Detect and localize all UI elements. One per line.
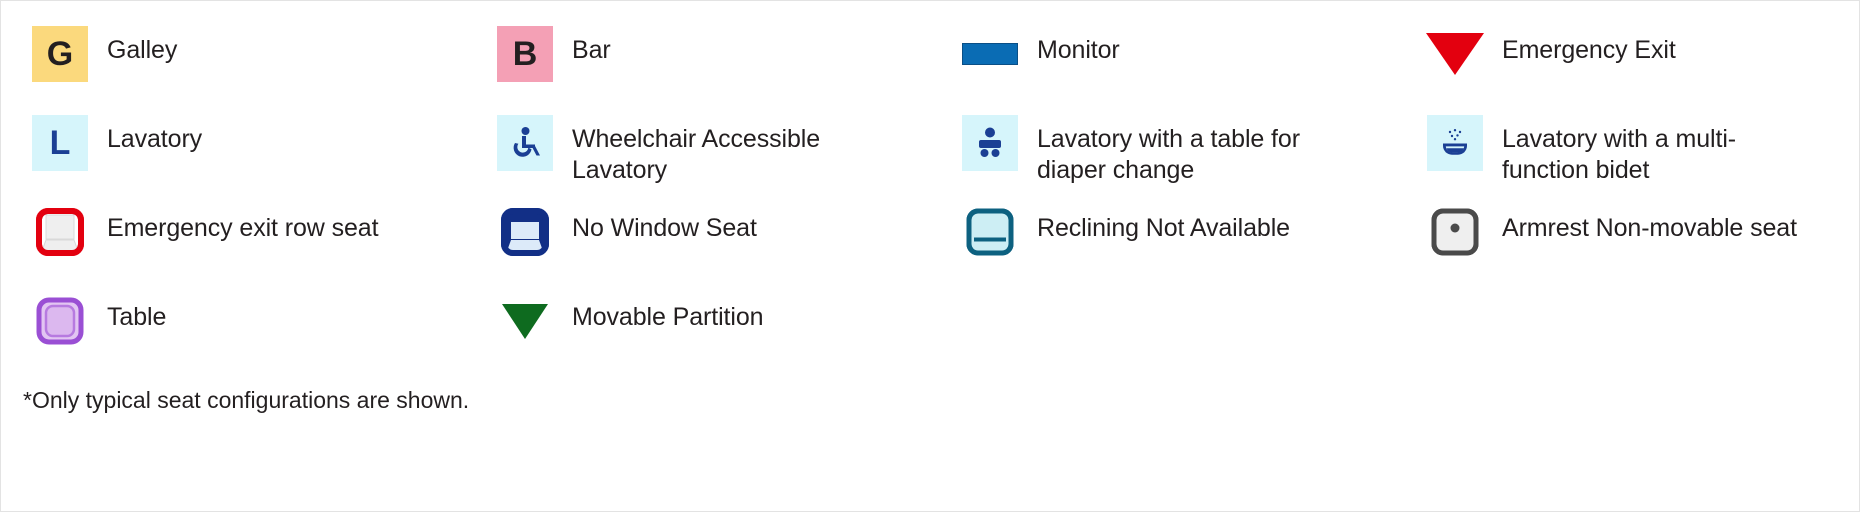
galley-letter: G (32, 26, 88, 82)
bar-tile-icon: B (496, 25, 554, 83)
legend-item-placeholder-2 (1396, 284, 1860, 373)
baby-change-tile (962, 115, 1018, 171)
legend-label-wheelchair-lavatory: Wheelchair Accessible Lavatory (572, 124, 867, 185)
legend-item-lavatory: L Lavatory (1, 106, 466, 195)
armrest-non-movable-seat-icon (1426, 203, 1484, 261)
legend-label-lavatory: Lavatory (107, 124, 202, 155)
reclining-not-available-seat-icon (961, 203, 1019, 261)
legend-label-baby-change-lavatory: Lavatory with a table for diaper change (1037, 124, 1332, 185)
legend-item-wheelchair-lavatory: Wheelchair Accessible Lavatory (466, 106, 931, 195)
legend-label-reclining-not-available: Reclining Not Available (1037, 213, 1290, 244)
legend-footnote: *Only typical seat configurations are sh… (1, 387, 1859, 414)
legend-item-no-window-seat: No Window Seat (466, 195, 931, 284)
legend-item-monitor: Monitor (931, 17, 1396, 106)
emergency-exit-triangle (1426, 33, 1484, 75)
legend-item-bidet-lavatory: Lavatory with a multi-function bidet (1396, 106, 1860, 195)
movable-partition-triangle (502, 304, 548, 339)
emergency-exit-triangle-icon (1426, 25, 1484, 83)
table-shape (34, 295, 86, 347)
table-icon (31, 292, 89, 350)
wheelchair-icon (505, 123, 545, 163)
legend-item-table: Table (1, 284, 466, 373)
legend-item-emergency-exit-row-seat: Emergency exit row seat (1, 195, 466, 284)
seat-map-legend-panel: G Galley B Bar Monitor Emergency Exit (0, 0, 1860, 512)
bar-letter: B (497, 26, 553, 82)
bidet-tile (1427, 115, 1483, 171)
legend-label-no-window-seat: No Window Seat (572, 213, 757, 244)
legend-label-table: Table (107, 302, 166, 333)
monitor-swatch (962, 43, 1018, 65)
lavatory-letter: L (32, 115, 88, 171)
legend-label-emergency-exit: Emergency Exit (1502, 35, 1676, 66)
legend-item-galley: G Galley (1, 17, 466, 106)
legend-item-bar: B Bar (466, 17, 931, 106)
wheelchair-tile (497, 115, 553, 171)
legend-item-emergency-exit: Emergency Exit (1396, 17, 1860, 106)
no-window-seat-icon (496, 203, 554, 261)
monitor-swatch-icon (961, 25, 1019, 83)
lavatory-tile-icon: L (31, 114, 89, 172)
bidet-lavatory-icon (1426, 114, 1484, 172)
baby-change-lavatory-icon (961, 114, 1019, 172)
seat-shape (34, 206, 86, 258)
baby-icon (971, 124, 1009, 162)
legend-item-baby-change-lavatory: Lavatory with a table for diaper change (931, 106, 1396, 195)
legend-item-reclining-not-available: Reclining Not Available (931, 195, 1396, 284)
legend-label-emergency-exit-row-seat: Emergency exit row seat (107, 213, 378, 244)
legend-label-bar: Bar (572, 35, 611, 66)
legend-label-armrest-non-movable: Armrest Non-movable seat (1502, 213, 1797, 244)
legend-grid: G Galley B Bar Monitor Emergency Exit (1, 17, 1859, 373)
movable-partition-triangle-icon (496, 292, 554, 350)
legend-item-armrest-non-movable: Armrest Non-movable seat (1396, 195, 1860, 284)
legend-label-movable-partition: Movable Partition (572, 302, 763, 333)
seat-shape (964, 206, 1016, 258)
bidet-icon (1436, 124, 1474, 162)
wheelchair-lavatory-icon (496, 114, 554, 172)
legend-item-movable-partition: Movable Partition (466, 284, 931, 373)
legend-label-monitor: Monitor (1037, 35, 1120, 66)
galley-tile-icon: G (31, 25, 89, 83)
seat-shape (499, 206, 551, 258)
seat-shape (1429, 206, 1481, 258)
legend-label-galley: Galley (107, 35, 177, 66)
emergency-exit-row-seat-icon (31, 203, 89, 261)
legend-item-placeholder-1 (931, 284, 1396, 373)
legend-label-bidet-lavatory: Lavatory with a multi-function bidet (1502, 124, 1797, 185)
